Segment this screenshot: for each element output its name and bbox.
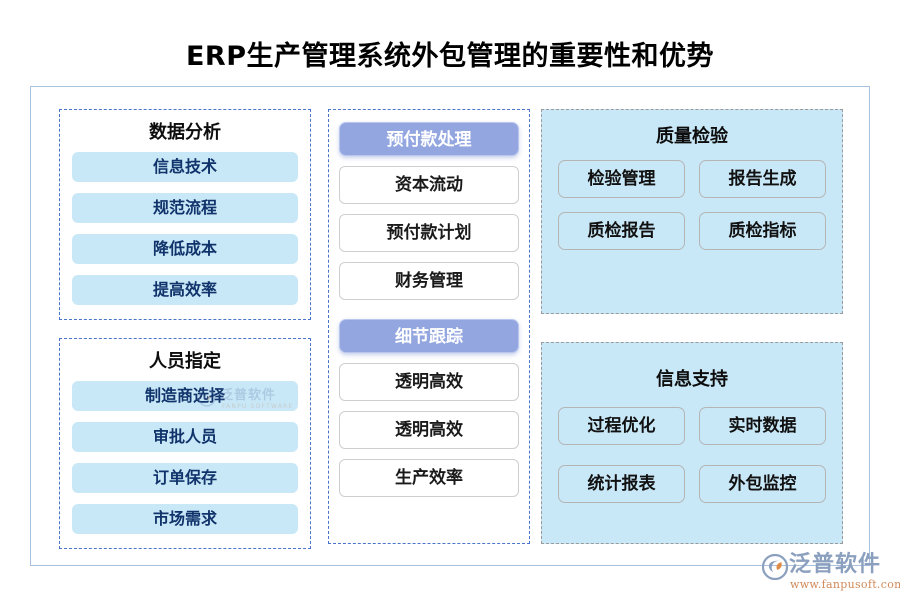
section-divider <box>339 310 519 319</box>
panel-title-quality-inspection: 质量检验 <box>558 120 826 160</box>
section-header-prepayment[interactable]: 预付款处理 <box>339 122 519 156</box>
panel-grid-info: 过程优化 实时数据 统计报表 外包监控 <box>558 407 826 503</box>
pill-info-technology[interactable]: 信息技术 <box>72 152 298 182</box>
pill-market-demand[interactable]: 市场需求 <box>72 504 298 534</box>
card-transparent-efficient-2[interactable]: 透明高效 <box>339 411 519 449</box>
group-personnel-assignment: 人员指定 制造商选择 审批人员 订单保存 市场需求 <box>59 338 311 549</box>
group-title-data-analysis: 数据分析 <box>72 118 298 152</box>
panel-quality-inspection: 质量检验 检验管理 报告生成 质检报告 质检指标 <box>541 109 843 314</box>
card-inspection-management[interactable]: 检验管理 <box>558 160 685 198</box>
group-title-personnel-assignment: 人员指定 <box>72 347 298 381</box>
logo-website-url: www.fanpusoft.com <box>790 578 900 591</box>
card-quality-indicator[interactable]: 质检指标 <box>699 212 826 250</box>
group-data-analysis: 数据分析 信息技术 规范流程 降低成本 提高效率 <box>59 109 311 320</box>
left-column: 数据分析 信息技术 规范流程 降低成本 提高效率 人员指定 制造商选择 审批人员… <box>59 109 311 549</box>
panel-grid-quality: 检验管理 报告生成 质检报告 质检指标 <box>558 160 826 250</box>
section-header-detail-tracking[interactable]: 细节跟踪 <box>339 319 519 353</box>
brand-logo: 泛普软件 www.fanpusoft.com <box>762 552 896 596</box>
content-frame: 数据分析 信息技术 规范流程 降低成本 提高效率 人员指定 制造商选择 审批人员… <box>30 86 870 566</box>
pill-approval-personnel[interactable]: 审批人员 <box>72 422 298 452</box>
middle-column: 预付款处理 资本流动 预付款计划 财务管理 细节跟踪 透明高效 透明高效 生产效… <box>328 109 530 544</box>
card-production-efficiency[interactable]: 生产效率 <box>339 459 519 497</box>
card-prepayment-plan[interactable]: 预付款计划 <box>339 214 519 252</box>
page-title: ERP生产管理系统外包管理的重要性和优势 <box>0 40 900 74</box>
fanpu-logo-icon <box>762 554 788 580</box>
card-capital-flow[interactable]: 资本流动 <box>339 166 519 204</box>
logo-company-name: 泛普软件 <box>789 552 881 578</box>
card-process-optimization[interactable]: 过程优化 <box>558 407 685 445</box>
pill-manufacturer-selection[interactable]: 制造商选择 <box>72 381 298 411</box>
pill-standard-process[interactable]: 规范流程 <box>72 193 298 223</box>
card-report-generation[interactable]: 报告生成 <box>699 160 826 198</box>
right-column: 质量检验 检验管理 报告生成 质检报告 质检指标 信息支持 过程优化 实时数据 … <box>541 109 843 544</box>
card-transparent-efficient-1[interactable]: 透明高效 <box>339 363 519 401</box>
card-statistical-report[interactable]: 统计报表 <box>558 465 685 503</box>
slide-canvas: ERP生产管理系统外包管理的重要性和优势 数据分析 信息技术 规范流程 降低成本… <box>0 0 900 600</box>
card-outsourcing-monitoring[interactable]: 外包监控 <box>699 465 826 503</box>
card-realtime-data[interactable]: 实时数据 <box>699 407 826 445</box>
pill-reduce-cost[interactable]: 降低成本 <box>72 234 298 264</box>
panel-information-support: 信息支持 过程优化 实时数据 统计报表 外包监控 <box>541 342 843 544</box>
card-quality-report[interactable]: 质检报告 <box>558 212 685 250</box>
pill-order-save[interactable]: 订单保存 <box>72 463 298 493</box>
pill-improve-efficiency[interactable]: 提高效率 <box>72 275 298 305</box>
card-financial-management[interactable]: 财务管理 <box>339 262 519 300</box>
panel-title-information-support: 信息支持 <box>558 353 826 407</box>
